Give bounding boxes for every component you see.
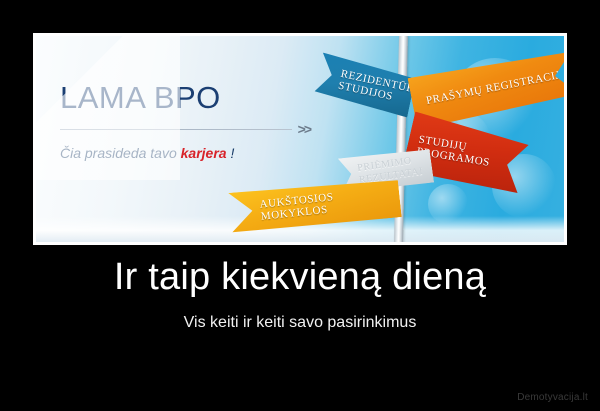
sign-label-group: PRIĖMIMO REZULTATAI [357, 154, 424, 185]
sign-label-line1: AUKŠTOSIOS MOKYKLOS [259, 184, 401, 223]
banner-subtitle-accent: karjera [181, 145, 227, 161]
banner-subtitle-prefix: Čia prasideda tavo [60, 145, 181, 161]
banner-title: LAMA BPO [60, 82, 310, 113]
demotivational-poster: LAMA BPO >> Čia prasideda tavo karjera !… [0, 0, 600, 411]
caption-title: Ir taip kiekvieną dieną [0, 258, 600, 298]
double-chevron-right-icon: >> [298, 122, 310, 136]
sign-label-group: AUKŠTOSIOS MOKYKLOS [259, 184, 401, 223]
footer-watermark: Demotyvacija.lt [517, 392, 588, 403]
banner-subtitle-suffix: ! [227, 145, 235, 161]
caption-subtitle: Vis keiti ir keiti savo pasirinkimus [0, 314, 600, 332]
banner-rule-row: >> [60, 122, 310, 136]
caption-block: Ir taip kiekvieną dieną Vis keiti ir kei… [0, 258, 600, 332]
sign-label-group: PRAŠYMŲ REGISTRACIJA [425, 67, 564, 107]
banner-text-block: LAMA BPO >> Čia prasideda tavo karjera ! [60, 82, 310, 161]
sign-label-line1: PRAŠYMŲ REGISTRACIJA [425, 67, 564, 107]
horizontal-rule [60, 129, 292, 130]
photo-frame: LAMA BPO >> Čia prasideda tavo karjera !… [33, 33, 567, 245]
banner-image: LAMA BPO >> Čia prasideda tavo karjera !… [36, 36, 564, 242]
banner-subtitle: Čia prasideda tavo karjera ! [60, 145, 310, 161]
